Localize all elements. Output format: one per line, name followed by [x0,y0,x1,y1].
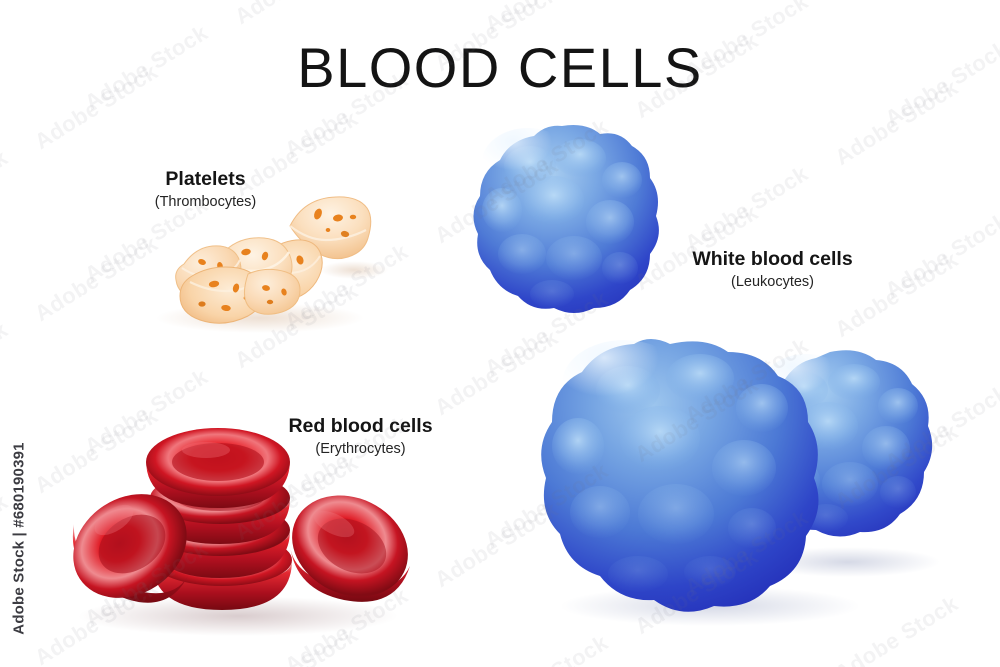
page-title: BLOOD CELLS [0,40,1000,96]
label-white-blood-cells-sub: (Leukocytes) [640,273,905,292]
watermark-vertical-text: Adobe Stock | #680190391 [11,442,28,634]
label-platelets-sub: (Thrombocytes) [73,193,338,212]
platelet-shadow [320,261,388,279]
watermark-vertical-strip: Adobe Stock | #680190391 [4,0,34,667]
platelets-illustration [140,190,400,340]
illustration-canvas: BLOOD CELLS Platelets (Thrombocytes) Whi… [0,0,1000,667]
label-platelets: Platelets (Thrombocytes) [73,168,338,212]
white-blood-cells-illustration-pair [520,328,940,628]
label-platelets-main: Platelets [73,168,338,190]
label-white-blood-cells-main: White blood cells [640,248,905,270]
label-red-blood-cells-main: Red blood cells [228,415,493,437]
watermark-row: Adobe StockAdobe StockAdobe StockAdobe S… [0,0,1000,22]
label-white-blood-cells: White blood cells (Leukocytes) [640,248,905,292]
white-blood-cell [541,339,818,612]
wbc-highlight [482,128,574,196]
white-blood-cell-illustration-single [462,118,672,328]
label-red-blood-cells: Red blood cells (Erythrocytes) [228,415,493,459]
red-blood-cell [275,477,425,616]
platelet [244,269,300,314]
label-red-blood-cells-sub: (Erythrocytes) [228,440,493,459]
